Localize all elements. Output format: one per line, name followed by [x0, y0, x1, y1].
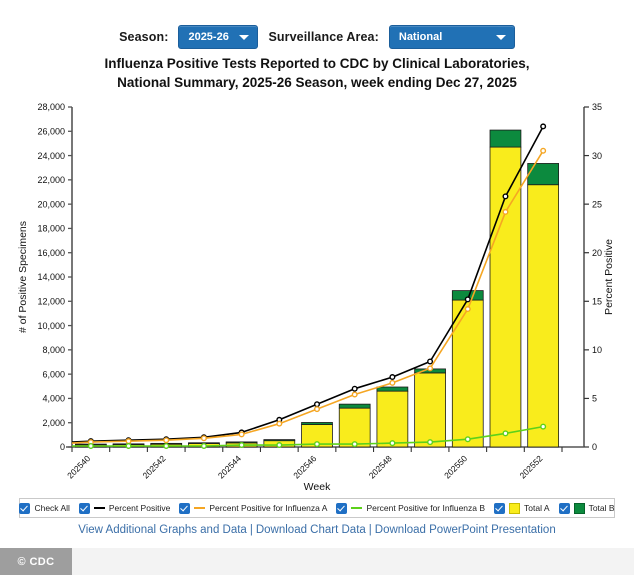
- line-point: [315, 407, 320, 412]
- y-axis-tick-label: 20,000: [37, 199, 65, 209]
- line-point: [202, 444, 207, 449]
- y-axis-tick-label: 26,000: [37, 126, 65, 136]
- season-select-value: 2025-26: [179, 31, 228, 43]
- y-axis-tick-label: 14,000: [37, 272, 65, 282]
- line-point: [465, 307, 470, 312]
- bar-total-a: [377, 391, 408, 447]
- chart-title: Influenza Positive Tests Reported to CDC…: [0, 54, 634, 92]
- y-axis-tick-label: 24,000: [37, 151, 65, 161]
- line-point: [126, 439, 131, 444]
- surveillance-area-select[interactable]: National: [389, 25, 515, 49]
- line-point: [503, 431, 508, 436]
- y-axis-tick-label: 6,000: [42, 369, 65, 379]
- line-point: [164, 437, 169, 442]
- legend-item-label: Total B: [589, 503, 615, 513]
- chart-links: View Additional Graphs and Data|Download…: [0, 524, 634, 536]
- legend-item-0[interactable]: Check All: [19, 503, 69, 514]
- legend-item-label: Check All: [34, 503, 69, 513]
- line-point: [277, 421, 282, 426]
- line-point: [239, 430, 244, 435]
- line-point: [541, 148, 546, 153]
- chart-title-line1: Influenza Positive Tests Reported to CDC…: [0, 54, 634, 73]
- line-point: [89, 440, 94, 445]
- legend-checkbox-icon[interactable]: [494, 503, 505, 514]
- legend-line-marker-icon: [351, 507, 362, 509]
- bar-total-b: [339, 404, 370, 408]
- cdc-copyright-badge: © CDC: [0, 548, 72, 575]
- x-axis-tick-label: 202550: [442, 453, 469, 480]
- bar-total-b: [490, 130, 521, 147]
- legend-checkbox-icon[interactable]: [336, 503, 347, 514]
- legend-line-marker-icon: [94, 507, 105, 509]
- bar-total-a: [415, 373, 446, 447]
- x-axis-tick-label: 202548: [367, 453, 394, 480]
- legend-item-label: Percent Positive: [109, 503, 170, 513]
- y-axis-tick-label: 12,000: [37, 296, 65, 306]
- line-point: [239, 432, 244, 437]
- line-point: [428, 366, 433, 371]
- line-point: [465, 297, 470, 302]
- legend-checkbox-icon[interactable]: [559, 503, 570, 514]
- line-point: [277, 418, 282, 423]
- line-point: [315, 442, 320, 447]
- legend-item-4[interactable]: Total A: [494, 503, 550, 514]
- line-point: [277, 443, 282, 448]
- x-axis-tick-label: 202552: [517, 453, 544, 480]
- link-separator-2: |: [369, 524, 372, 536]
- y2-axis-tick-label: 10: [592, 345, 602, 355]
- line-point: [164, 444, 169, 449]
- bar-total-a: [113, 445, 144, 447]
- y-axis-title: # of Positive Specimens: [17, 221, 29, 333]
- bar-total-b: [302, 422, 333, 424]
- legend-line-marker-icon: [194, 507, 205, 509]
- x-axis-tick-label: 202546: [291, 453, 318, 480]
- bar-total-a: [302, 425, 333, 447]
- x-axis-tick-label: 202542: [141, 453, 168, 480]
- bar-total-a: [490, 147, 521, 447]
- y2-axis-tick-label: 5: [592, 394, 597, 404]
- bar-total-a: [339, 408, 370, 447]
- bar-total-a: [528, 185, 559, 447]
- bar-total-a: [188, 444, 219, 447]
- bar-total-b: [113, 444, 144, 445]
- y-axis-tick-label: 0: [60, 442, 65, 452]
- bar-total-b: [452, 291, 483, 300]
- y2-axis-title: Percent Positive: [603, 239, 615, 315]
- y-axis-tick-label: 4,000: [42, 394, 65, 404]
- line-point: [89, 439, 94, 444]
- legend-item-2[interactable]: Percent Positive for Influenza A: [179, 503, 327, 514]
- chevron-down-icon: [496, 35, 506, 40]
- legend-swatch-icon: [509, 503, 520, 514]
- line-percent-positive-for-influenza-a: [72, 151, 543, 443]
- legend-swatch-icon: [574, 503, 585, 514]
- download-chart-data-link[interactable]: Download Chart Data: [256, 524, 366, 536]
- line-point: [541, 424, 546, 429]
- controls-bar: Season: 2025-26 Surveillance Area: Natio…: [0, 22, 634, 52]
- line-point: [352, 442, 357, 447]
- legend-checkbox-icon[interactable]: [79, 503, 90, 514]
- legend-item-label: Percent Positive for Influenza A: [209, 503, 327, 513]
- y-axis-tick-label: 18,000: [37, 224, 65, 234]
- y2-axis-tick-label: 35: [592, 102, 602, 112]
- bar-total-b: [415, 369, 446, 373]
- season-label: Season:: [119, 30, 168, 44]
- line-point: [315, 402, 320, 407]
- line-point: [352, 386, 357, 391]
- legend-item-label: Total A: [524, 503, 550, 513]
- y2-axis-tick-label: 0: [592, 442, 597, 452]
- x-axis-tick-label: 202540: [65, 453, 92, 480]
- line-point: [352, 392, 357, 397]
- download-powerpoint-link[interactable]: Download PowerPoint Presentation: [375, 524, 556, 536]
- legend-item-label: Percent Positive for Influenza B: [366, 503, 485, 513]
- line-point: [202, 435, 207, 440]
- view-additional-graphs-link[interactable]: View Additional Graphs and Data: [78, 524, 247, 536]
- y-axis-tick-label: 16,000: [37, 248, 65, 258]
- line-point: [390, 381, 395, 386]
- chevron-down-icon: [239, 35, 249, 40]
- season-select[interactable]: 2025-26: [178, 25, 258, 49]
- bar-total-a: [264, 441, 295, 447]
- bar-total-b: [226, 442, 257, 443]
- line-percent-positive-for-influenza-b: [72, 427, 543, 446]
- legend-item-1[interactable]: Percent Positive: [79, 503, 170, 514]
- line-point: [390, 375, 395, 380]
- line-point: [126, 438, 131, 443]
- line-point: [390, 441, 395, 446]
- x-axis-title: Week: [304, 481, 331, 493]
- surveillance-area-select-value: National: [390, 31, 442, 43]
- bar-total-a: [452, 300, 483, 447]
- bar-total-a: [226, 443, 257, 447]
- link-separator-1: |: [250, 524, 253, 536]
- bar-total-b: [75, 444, 106, 445]
- line-point: [164, 438, 169, 443]
- y2-axis-tick-label: 25: [592, 199, 602, 209]
- line-point: [541, 124, 546, 129]
- line-point: [428, 359, 433, 364]
- chart-title-line2: National Summary, 2025-26 Season, week e…: [0, 73, 634, 92]
- surveillance-area-label: Surveillance Area:: [268, 30, 378, 44]
- line-point: [89, 444, 94, 449]
- legend-item-5[interactable]: Total B: [559, 503, 615, 514]
- line-point: [239, 443, 244, 448]
- y-axis-tick-label: 22,000: [37, 175, 65, 185]
- y-axis-tick-label: 8,000: [42, 345, 65, 355]
- y2-axis-tick-label: 30: [592, 151, 602, 161]
- bar-total-b: [264, 440, 295, 441]
- legend-item-3[interactable]: Percent Positive for Influenza B: [336, 503, 485, 514]
- y-axis-tick-label: 10,000: [37, 321, 65, 331]
- bar-total-b: [151, 443, 182, 444]
- line-point: [503, 210, 508, 215]
- legend-checkbox-icon[interactable]: [19, 503, 30, 514]
- y2-axis-tick-label: 20: [592, 248, 602, 258]
- y-axis-tick-label: 28,000: [37, 102, 65, 112]
- line-point: [465, 437, 470, 442]
- line-point: [428, 440, 433, 445]
- chart-legend: Check AllPercent PositivePercent Positiv…: [19, 498, 615, 518]
- line-point: [503, 194, 508, 199]
- line-percent-positive: [72, 126, 543, 442]
- bar-total-a: [151, 444, 182, 447]
- legend-checkbox-icon[interactable]: [179, 503, 190, 514]
- footer-bar: © CDC: [0, 548, 634, 575]
- bar-total-a: [75, 445, 106, 447]
- bar-total-b: [377, 387, 408, 391]
- line-point: [202, 436, 207, 441]
- bar-total-b: [528, 163, 559, 184]
- x-axis-tick-label: 202544: [216, 453, 243, 480]
- y-axis-tick-label: 2,000: [42, 418, 65, 428]
- y2-axis-tick-label: 15: [592, 296, 602, 306]
- bar-total-b: [188, 443, 219, 444]
- line-point: [126, 444, 131, 449]
